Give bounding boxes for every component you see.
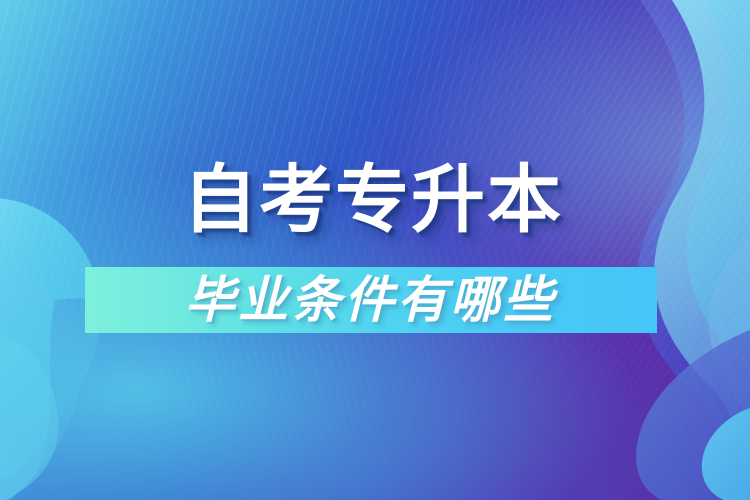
promo-banner: 自考专升本 毕业条件有哪些 <box>0 0 750 500</box>
banner-text-group: 自考专升本 毕业条件有哪些 <box>0 0 750 500</box>
banner-subtitle: 毕业条件有哪些 <box>185 268 556 332</box>
banner-headline: 自考专升本 <box>183 152 563 248</box>
